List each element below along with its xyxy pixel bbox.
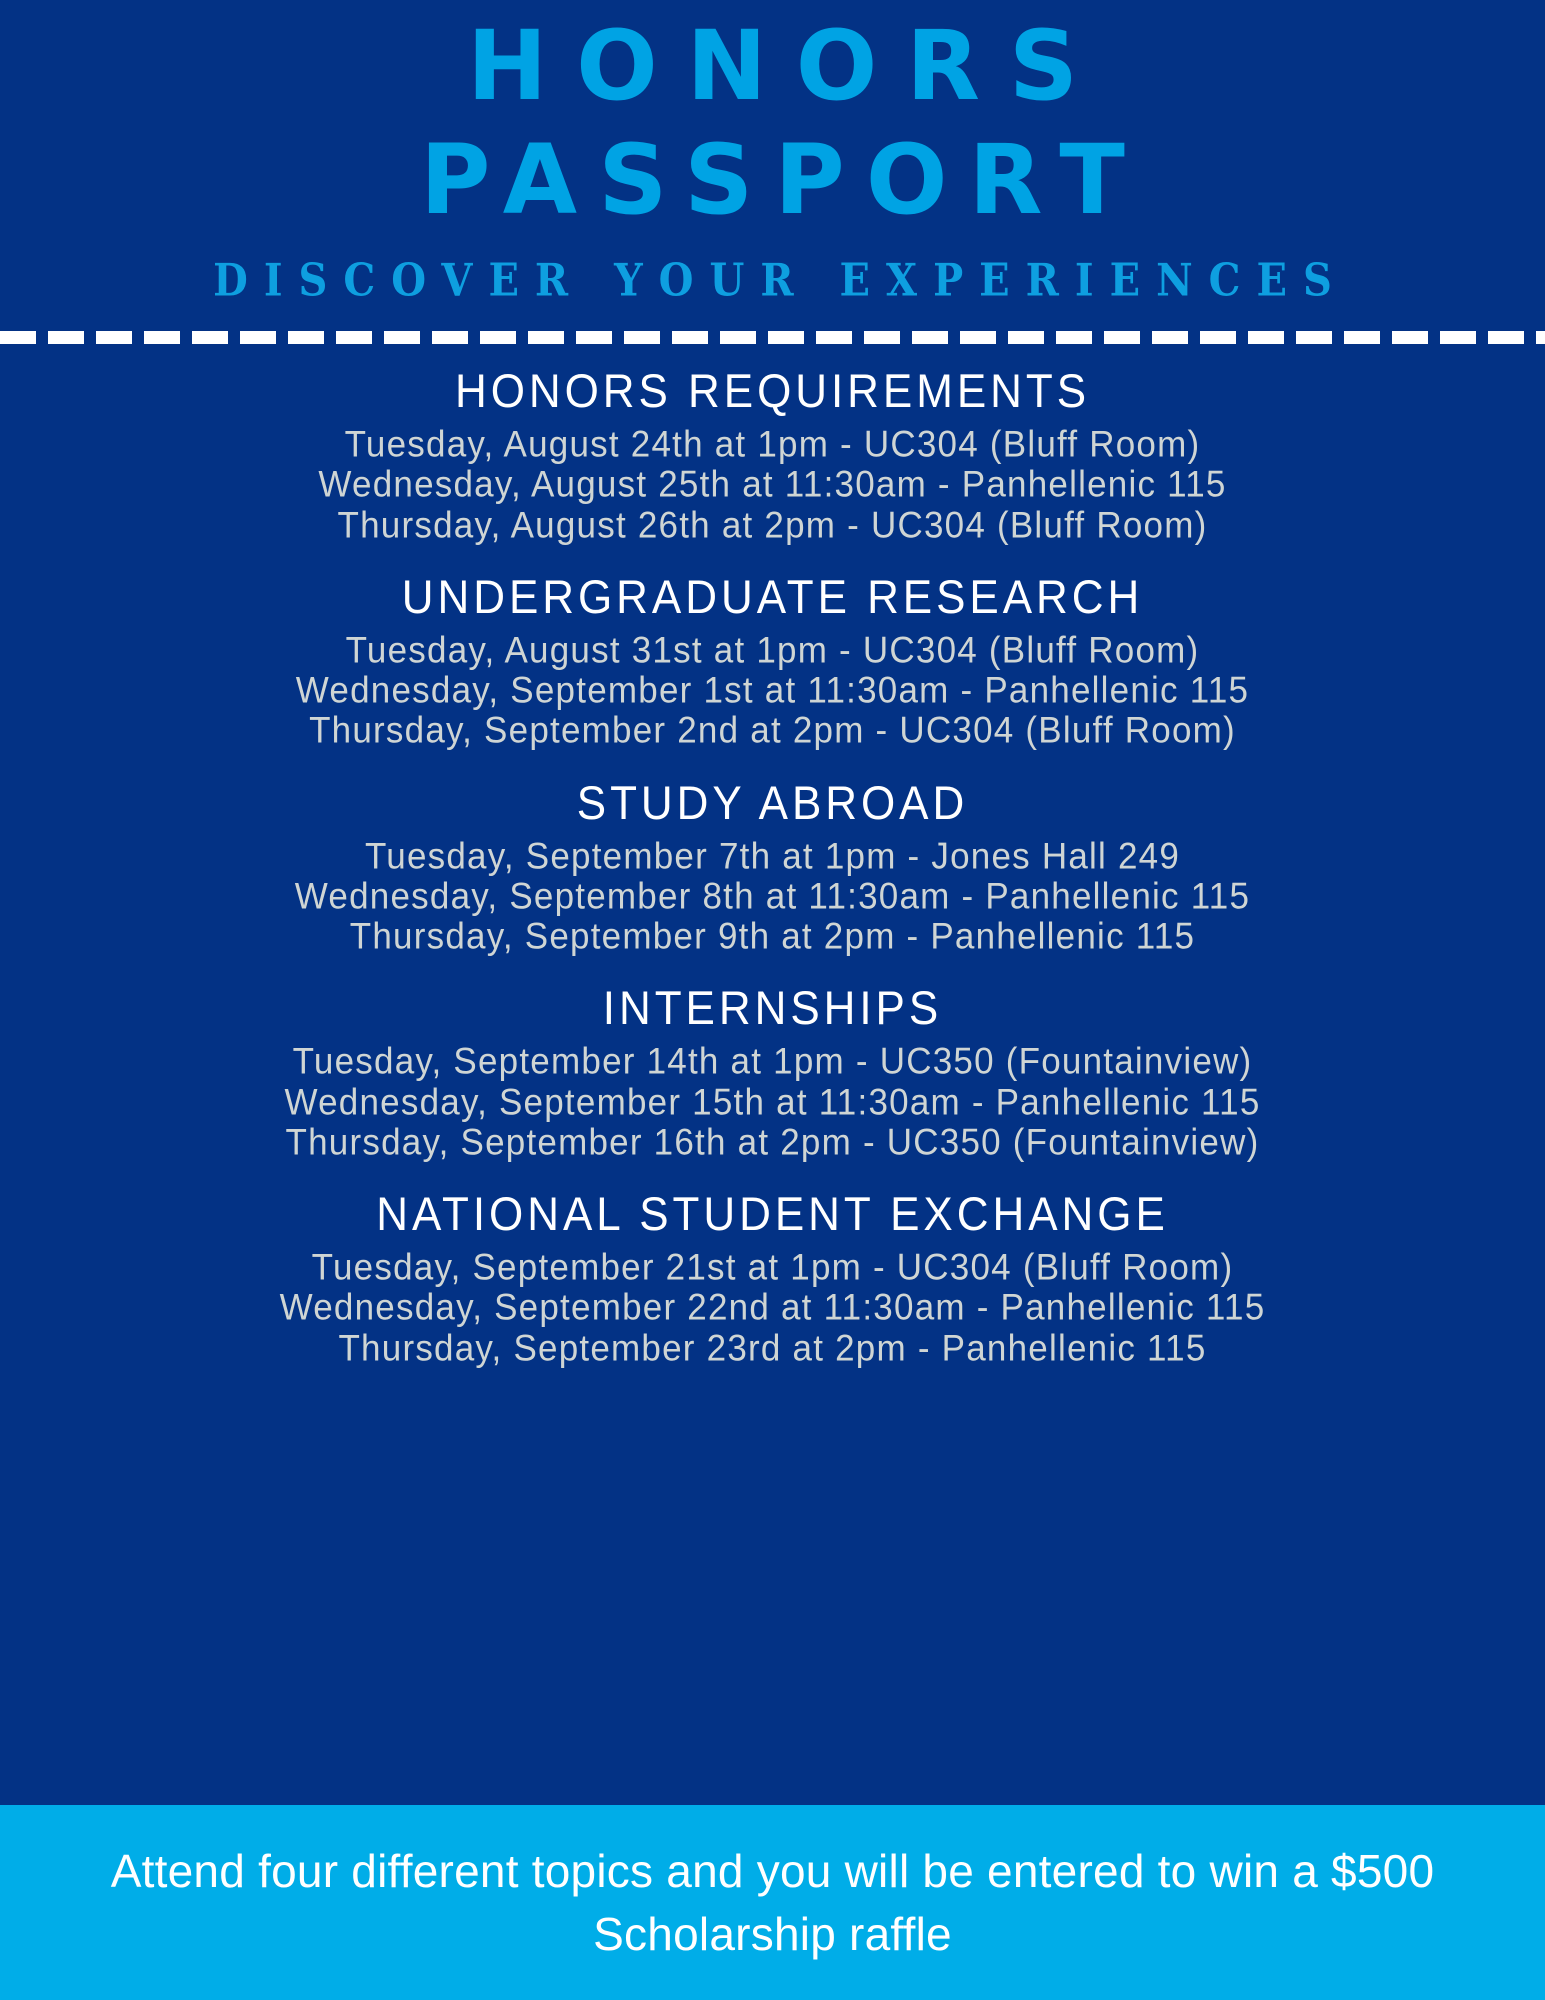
divider-dash — [484, 331, 520, 344]
sessions-list: HONORS REQUIREMENTSTuesday, August 24th … — [0, 344, 1545, 2000]
divider-dash — [628, 331, 664, 344]
divider-dash — [676, 331, 712, 344]
session-group: UNDERGRADUATE RESEARCHTuesday, August 31… — [0, 570, 1545, 752]
session-group-title: STUDY ABROAD — [0, 773, 1545, 832]
footer-banner: Attend four different topics and you wil… — [0, 1805, 1545, 2000]
divider-dash — [1156, 331, 1192, 344]
divider-dash — [820, 331, 856, 344]
dashed-divider-track — [0, 331, 1545, 344]
session-group: HONORS REQUIREMENTSTuesday, August 24th … — [0, 364, 1545, 546]
session-group-lines: Tuesday, August 31st at 1pm - UC304 (Blu… — [0, 631, 1545, 752]
session-group-lines: Tuesday, August 24th at 1pm - UC304 (Blu… — [0, 425, 1545, 546]
divider-dash — [868, 331, 904, 344]
divider-dash — [100, 331, 136, 344]
session-group-title: NATIONAL STUDENT EXCHANGE — [0, 1185, 1545, 1244]
dashed-divider — [0, 331, 1545, 344]
session-group-lines: Tuesday, September 7th at 1pm - Jones Ha… — [0, 837, 1545, 958]
session-line: Thursday, September 23rd at 2pm - Panhel… — [0, 1327, 1545, 1369]
poster-title-line-2: PASSPORT — [0, 132, 1545, 228]
session-line: Thursday, September 2nd at 2pm - UC304 (… — [0, 710, 1545, 752]
divider-dash — [292, 331, 328, 344]
divider-dash — [52, 331, 88, 344]
session-line: Thursday, August 26th at 2pm - UC304 (Bl… — [0, 504, 1545, 546]
session-line: Wednesday, September 1st at 11:30am - Pa… — [0, 670, 1545, 712]
divider-dash — [1300, 331, 1336, 344]
session-line: Tuesday, September 14th at 1pm - UC350 (… — [0, 1041, 1545, 1083]
divider-dash — [388, 331, 424, 344]
session-line: Tuesday, September 7th at 1pm - Jones Ha… — [0, 835, 1545, 877]
divider-dash — [1060, 331, 1096, 344]
divider-dash — [964, 331, 1000, 344]
session-group-lines: Tuesday, September 14th at 1pm - UC350 (… — [0, 1042, 1545, 1163]
divider-dash — [1204, 331, 1240, 344]
divider-dash — [724, 331, 760, 344]
session-line: Wednesday, September 15th at 11:30am - P… — [0, 1081, 1545, 1123]
session-group: NATIONAL STUDENT EXCHANGETuesday, Septem… — [0, 1187, 1545, 1369]
divider-dash — [1396, 331, 1432, 344]
divider-dash — [580, 331, 616, 344]
session-line: Wednesday, September 8th at 11:30am - Pa… — [0, 876, 1545, 918]
session-group: INTERNSHIPSTuesday, September 14th at 1p… — [0, 981, 1545, 1163]
session-line: Wednesday, August 25th at 11:30am - Panh… — [0, 464, 1545, 506]
poster-title-line-1: HONORS — [0, 18, 1545, 114]
divider-dash — [148, 331, 184, 344]
poster-canvas: HONORS PASSPORT DISCOVER YOUR EXPERIENCE… — [0, 0, 1545, 2000]
divider-dash — [1348, 331, 1384, 344]
session-line: Tuesday, August 24th at 1pm - UC304 (Blu… — [0, 424, 1545, 466]
session-line: Thursday, September 9th at 2pm - Panhell… — [0, 916, 1545, 958]
divider-dash — [1444, 331, 1480, 344]
divider-dash — [1108, 331, 1144, 344]
session-group: STUDY ABROADTuesday, September 7th at 1p… — [0, 776, 1545, 958]
poster-subtitle: DISCOVER YOUR EXPERIENCES — [0, 254, 1545, 307]
poster-header: HONORS PASSPORT DISCOVER YOUR EXPERIENCE… — [0, 0, 1545, 301]
session-line: Tuesday, September 21st at 1pm - UC304 (… — [0, 1247, 1545, 1289]
session-line: Wednesday, September 22nd at 11:30am - P… — [0, 1287, 1545, 1329]
session-group-title: UNDERGRADUATE RESEARCH — [0, 568, 1545, 627]
divider-dash — [772, 331, 808, 344]
session-group-lines: Tuesday, September 21st at 1pm - UC304 (… — [0, 1248, 1545, 1369]
divider-dash — [4, 331, 40, 344]
session-line: Thursday, September 16th at 2pm - UC350 … — [0, 1122, 1545, 1164]
divider-dash — [340, 331, 376, 344]
divider-dash — [244, 331, 280, 344]
footer-banner-text: Attend four different topics and you wil… — [0, 1840, 1545, 1964]
divider-dash — [1012, 331, 1048, 344]
divider-dash — [1492, 331, 1528, 344]
divider-dash — [436, 331, 472, 344]
session-group-title: INTERNSHIPS — [0, 979, 1545, 1038]
divider-dash — [196, 331, 232, 344]
divider-dash — [916, 331, 952, 344]
divider-dash — [532, 331, 568, 344]
session-group-title: HONORS REQUIREMENTS — [0, 362, 1545, 421]
session-line: Tuesday, August 31st at 1pm - UC304 (Blu… — [0, 630, 1545, 672]
divider-dash — [1252, 331, 1288, 344]
